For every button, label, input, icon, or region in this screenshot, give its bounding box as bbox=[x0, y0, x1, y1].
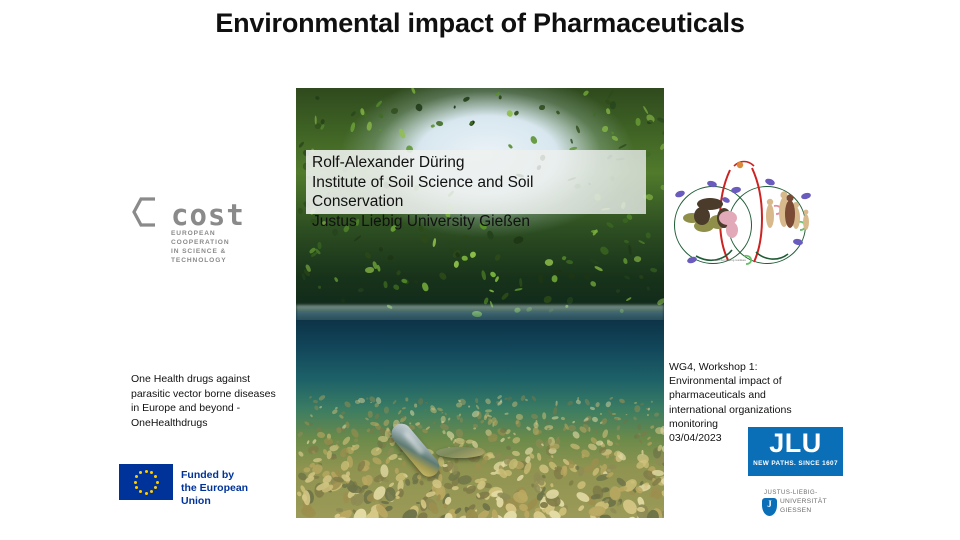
author-name: Rolf-Alexander Düring bbox=[312, 153, 642, 173]
left-caption-line3: in Europe and beyond - bbox=[131, 401, 299, 416]
pebble-bed bbox=[296, 395, 664, 518]
onehealth-diagram-caption: Vector-borne drug residues bbox=[712, 259, 822, 262]
eu-star bbox=[156, 481, 159, 484]
transmission-arrows bbox=[666, 160, 824, 272]
cost-tagline-line1: EUROPEAN COOPERATION bbox=[171, 229, 259, 247]
eu-star bbox=[145, 492, 148, 495]
cost-logo: cost EUROPEAN COOPERATION IN SCIENCE & T… bbox=[131, 196, 259, 248]
eu-funding-line1: Funded by bbox=[181, 469, 277, 482]
tablet-pill bbox=[436, 447, 484, 458]
jlu-shield-icon: J bbox=[762, 498, 777, 516]
jlu-secondary-line1: UNIVERSITÄT bbox=[780, 498, 827, 507]
eu-star bbox=[145, 470, 148, 473]
cost-wordmark: cost bbox=[171, 198, 245, 232]
eu-star bbox=[135, 486, 138, 489]
eu-star bbox=[154, 475, 157, 478]
eu-star bbox=[150, 490, 153, 493]
author-affiliation-block: Rolf-Alexander Düring Institute of Soil … bbox=[312, 153, 642, 231]
eu-funding-logo: Funded by the European Union bbox=[119, 464, 277, 500]
cost-hexagon-icon bbox=[131, 196, 165, 228]
jlu-wordmark: JLU bbox=[748, 428, 843, 458]
right-caption-line2: Environmental impact of bbox=[669, 374, 819, 388]
hero-image: Rolf-Alexander Düring Institute of Soil … bbox=[296, 88, 664, 518]
cost-tagline: EUROPEAN COOPERATION IN SCIENCE & TECHNO… bbox=[171, 229, 259, 265]
author-institute-line1: Institute of Soil Science and Soil bbox=[312, 173, 642, 193]
eu-star bbox=[134, 481, 137, 484]
onehealth-diagram: Vector-borne drug residues bbox=[666, 160, 824, 272]
underwater-layer bbox=[296, 320, 664, 518]
right-caption-line1: WG4, Workshop 1: bbox=[669, 360, 819, 374]
right-caption-line3: pharmaceuticals and bbox=[669, 388, 819, 402]
author-university: Justus Liebig University Gießen bbox=[312, 212, 642, 232]
jlu-secondary-logo: JUSTUS-LIEBIG- J UNIVERSITÄT GIESSEN bbox=[757, 490, 841, 520]
eu-star bbox=[139, 490, 142, 493]
eu-star bbox=[139, 471, 142, 474]
eu-star bbox=[135, 475, 138, 478]
eu-funding-text: Funded by the European Union bbox=[181, 469, 277, 508]
left-caption-line2: parasitic vector borne diseases bbox=[131, 387, 299, 402]
left-caption: One Health drugs against parasitic vecto… bbox=[131, 372, 299, 430]
left-caption-line1: One Health drugs against bbox=[131, 372, 299, 387]
jlu-secondary-name: UNIVERSITÄT GIESSEN bbox=[780, 498, 827, 515]
jlu-shield-letter: J bbox=[762, 499, 777, 509]
jlu-secondary-top-line: JUSTUS-LIEBIG- bbox=[764, 490, 818, 496]
eu-flag-icon bbox=[119, 464, 173, 500]
eu-star bbox=[154, 486, 157, 489]
left-caption-line4: OneHealthdrugs bbox=[131, 416, 299, 431]
author-institute-line2: Conservation bbox=[312, 192, 642, 212]
presentation-slide: Environmental impact of Pharmaceuticals … bbox=[0, 0, 960, 540]
jlu-secondary-line2: GIESSEN bbox=[780, 507, 827, 516]
page-title: Environmental impact of Pharmaceuticals bbox=[0, 8, 960, 39]
jlu-logo: JLU NEW PATHS. SINCE 1607 bbox=[748, 427, 843, 476]
cost-tagline-line2: IN SCIENCE & TECHNOLOGY bbox=[171, 247, 259, 265]
eu-funding-line2: the European Union bbox=[181, 482, 277, 508]
eu-star bbox=[150, 471, 153, 474]
right-caption-line4: international organizations bbox=[669, 403, 819, 417]
jlu-tagline: NEW PATHS. SINCE 1607 bbox=[748, 460, 843, 467]
